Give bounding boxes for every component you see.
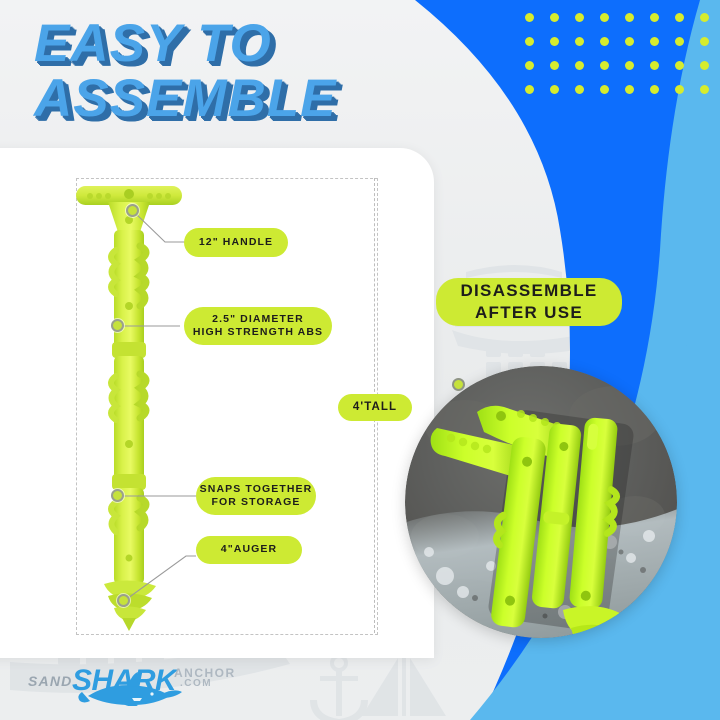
grid-dot: [600, 13, 609, 22]
grid-dot: [625, 13, 634, 22]
grid-dot: [650, 61, 659, 70]
callout-label-snaps-line2: FOR STORAGE: [200, 496, 313, 509]
anchor-joint-lower: [112, 474, 146, 490]
grid-dot: [575, 61, 584, 70]
anchor-product-illustration: [74, 176, 184, 631]
callout-label-handle: 12" HANDLE: [199, 236, 273, 249]
callout-label-snaps-line1: SNAPS TOGETHER: [200, 483, 313, 496]
anchor-auger-tip: [104, 580, 156, 631]
height-measure-pill: 4'TALL: [338, 394, 412, 421]
callout-pill-diameter[interactable]: 2.5" DIAMETER HIGH STRENGTH ABS: [184, 307, 332, 345]
callout-pill-auger[interactable]: 4"AUGER: [196, 536, 302, 564]
callout-pill-snaps[interactable]: SNAPS TOGETHER FOR STORAGE: [196, 477, 316, 515]
callout-pill-handle[interactable]: 12" HANDLE: [184, 228, 288, 257]
grid-dot: [575, 85, 584, 94]
disassemble-callout-pill: DISASSEMBLE AFTER USE: [436, 278, 622, 326]
grid-dot: [600, 61, 609, 70]
grid-dot: [675, 37, 684, 46]
grid-dot: [525, 13, 534, 22]
grid-dot: [675, 61, 684, 70]
grid-dot: [650, 85, 659, 94]
grid-dot: [550, 61, 559, 70]
grid-dot: [700, 85, 709, 94]
grid-dot: [550, 37, 559, 46]
grid-dot: [675, 85, 684, 94]
grid-dot: [700, 61, 709, 70]
height-measure-label: 4'TALL: [353, 400, 397, 415]
grid-dot: [625, 85, 634, 94]
callout-label-diameter-line1: 2.5" DIAMETER: [193, 313, 323, 326]
grid-dot: [675, 13, 684, 22]
grid-dot: [550, 13, 559, 22]
callout-label-diameter-line2: HIGH STRENGTH ABS: [193, 326, 323, 339]
grid-dot: [600, 85, 609, 94]
grid-dot: [575, 13, 584, 22]
logo-text-sand: SAND: [28, 673, 72, 689]
brand-logo[interactable]: SAND SHARK ANCHOR .COM: [28, 660, 233, 706]
grid-dot: [625, 61, 634, 70]
grid-dot: [700, 37, 709, 46]
grid-dot: [525, 85, 534, 94]
shark-icon: [76, 672, 186, 706]
headline-line-1: EASY TO: [34, 18, 336, 69]
grid-dot: [600, 37, 609, 46]
disassemble-label-line2: AFTER USE: [460, 302, 597, 324]
headline: EASY TO ASSEMBLE: [34, 18, 336, 125]
grid-dot: [525, 61, 534, 70]
callout-label-auger: 4"AUGER: [221, 543, 277, 556]
grid-dot: [525, 37, 534, 46]
anchor-shaft-middle: [111, 356, 146, 480]
photo-callout-node[interactable]: [452, 378, 465, 391]
grid-dot: [650, 37, 659, 46]
grid-dot: [700, 13, 709, 22]
callout-node-snaps[interactable]: [111, 489, 124, 502]
grid-dot: [650, 13, 659, 22]
grid-dot: [550, 85, 559, 94]
grid-dot: [625, 37, 634, 46]
anchor-shaft-lower: [111, 488, 146, 584]
callout-node-diameter[interactable]: [111, 319, 124, 332]
disassembled-product-photo: [405, 366, 677, 638]
decorative-dot-grid: [525, 13, 720, 109]
callout-node-auger[interactable]: [117, 594, 130, 607]
grid-dot: [575, 37, 584, 46]
callout-node-handle[interactable]: [126, 204, 139, 217]
anchor-joint-upper: [112, 342, 146, 358]
infographic-canvas: EASY TO ASSEMBLE: [0, 0, 720, 720]
headline-line-2: ASSEMBLE: [34, 73, 336, 124]
disassemble-label-line1: DISASSEMBLE: [460, 280, 597, 302]
